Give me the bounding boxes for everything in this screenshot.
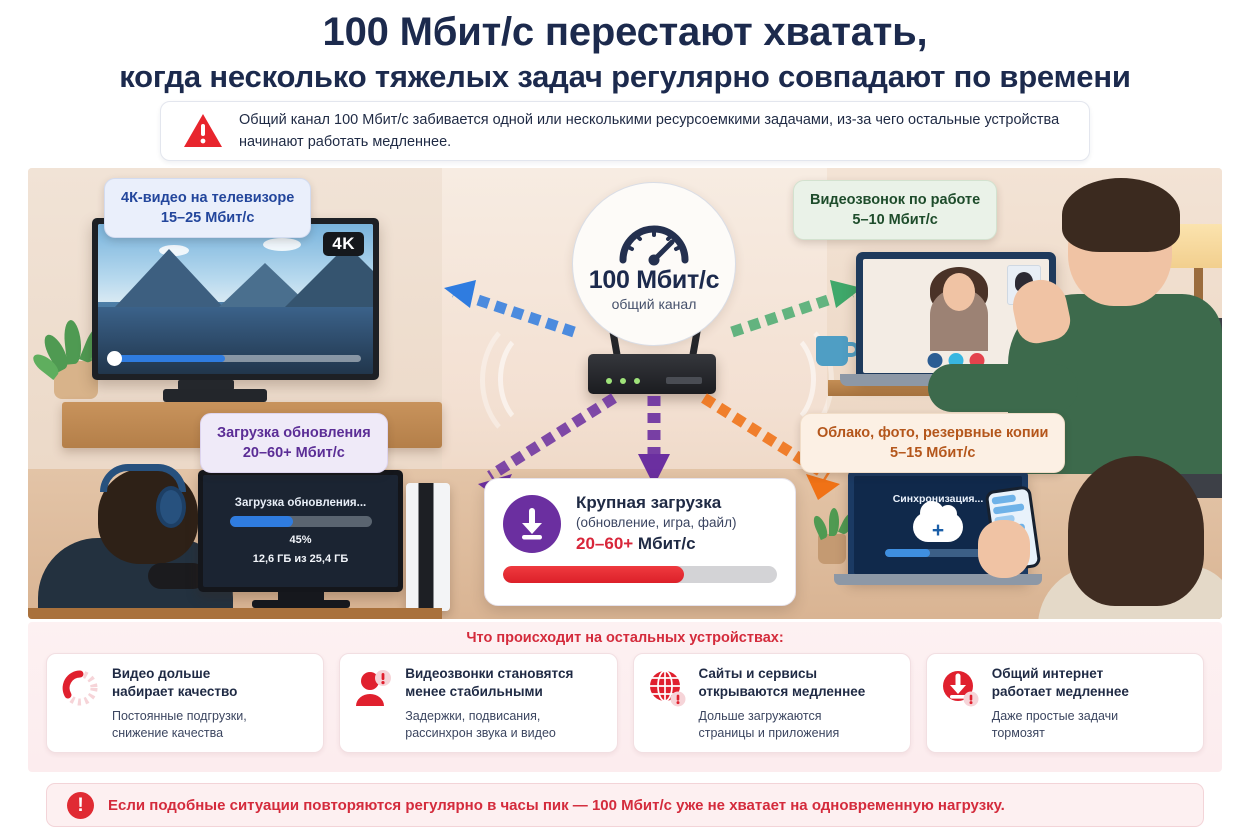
gaming-monitor-status: Загрузка обновления... xyxy=(235,497,366,509)
warning-triangle-icon xyxy=(183,113,223,149)
buffering-spinner-icon xyxy=(59,667,101,709)
tv-4k-badge: 4K xyxy=(323,232,364,256)
consequence-desc-line2: снижение качества xyxy=(112,726,223,740)
desk-left xyxy=(28,608,442,619)
headphones-cup-icon xyxy=(156,486,186,528)
tv-lake xyxy=(98,307,373,375)
arrow-to-tv xyxy=(398,278,578,340)
big-download-card: Крупная загрузка (обновление, игра, файл… xyxy=(484,478,796,606)
consequence-desc-line1: Даже простые задачи xyxy=(992,709,1118,723)
callout-cloud-title: Облако, фото, резервные копии xyxy=(817,423,1048,443)
callout-videocall-speed: 5–10 Мбит/с xyxy=(810,210,980,230)
consequence-desc: Задержки, подвисания, рассинхрон звука и… xyxy=(405,708,573,742)
globe-alert-icon xyxy=(646,667,688,709)
man-hair xyxy=(1062,178,1180,252)
television: 4K xyxy=(92,218,379,380)
gaming-monitor-progress xyxy=(230,516,372,527)
speedometer-icon xyxy=(615,216,693,264)
consequence-heading-line2: менее стабильными xyxy=(405,684,543,699)
circle-exclamation-icon: ! xyxy=(67,792,94,819)
consequence-heading: Видео дольше набирает качество xyxy=(112,665,247,701)
man-arm xyxy=(928,364,1078,412)
tv-playback-fill xyxy=(110,355,225,362)
consequence-desc-line2: рассинхрон звука и видео xyxy=(405,726,556,740)
consequences-grid: Видео дольше набирает качество Постоянны… xyxy=(28,653,1222,753)
router-port-strip xyxy=(666,377,702,384)
caller-face xyxy=(943,273,975,311)
gaming-monitor-progress-fill xyxy=(230,516,294,527)
consequence-heading-line1: Общий интернет xyxy=(992,666,1104,681)
consequence-desc-line1: Постоянные подгрузки, xyxy=(112,709,247,723)
consequence-desc-line1: Дольше загружаются xyxy=(699,709,822,723)
callout-videocall: Видеозвонок по работе 5–10 Мбит/с xyxy=(793,180,997,240)
coffee-mug-icon xyxy=(816,336,848,366)
download-card-progress-fill xyxy=(503,566,684,583)
monitor-foot xyxy=(252,600,350,608)
speedometer-value: 100 Мбит/с xyxy=(589,266,719,295)
page-header: 100 Мбит/с перестают хватать, когда неск… xyxy=(0,0,1250,95)
consequence-card: Видеозвонки становятся менее стабильными… xyxy=(339,653,617,753)
consequence-desc: Постоянные подгрузки, снижение качества xyxy=(112,708,247,742)
speedometer-subtitle: общий канал xyxy=(612,296,697,312)
tv-playback-knob xyxy=(107,351,122,366)
gaming-monitor-screen: Загрузка обновления... 45% 12,6 ГБ из 25… xyxy=(203,475,398,587)
callout-download-title: Загрузка обновления xyxy=(217,423,371,443)
download-card-speed: 20–60+ Мбит/с xyxy=(576,534,736,554)
consequence-desc-line2: тормозят xyxy=(992,726,1045,740)
sync-progress-fill xyxy=(885,549,930,557)
soundbar xyxy=(163,389,267,402)
gaming-monitor-size: 12,6 ГБ из 25,4 ГБ xyxy=(253,553,349,565)
callout-videocall-title: Видеозвонок по работе xyxy=(810,190,980,210)
consequence-card: Общий интернет работает медленнее Даже п… xyxy=(926,653,1204,753)
download-card-title: Крупная загрузка xyxy=(576,493,736,514)
callout-tv: 4К-видео на телевизоре 15–25 Мбит/с xyxy=(104,178,311,238)
footer-text: Если подобные ситуации повторяются регул… xyxy=(108,797,1005,814)
callout-download: Загрузка обновления 20–60+ Мбит/с xyxy=(200,413,388,473)
consequence-heading-line1: Видеозвонки становятся xyxy=(405,666,573,681)
callout-tv-title: 4К-видео на телевизоре xyxy=(121,188,294,208)
page-title-line2: когда несколько тяжелых задач регулярно … xyxy=(20,58,1230,95)
download-arrow-icon xyxy=(503,495,561,553)
download-card-speed-value: 20–60+ xyxy=(576,534,633,553)
download-card-subtitle: (обновление, игра, файл) xyxy=(576,514,736,532)
footer-banner: ! Если подобные ситуации повторяются рег… xyxy=(46,783,1204,827)
router-led xyxy=(634,378,640,384)
cloud-upload-icon: + xyxy=(913,512,963,542)
woman-hair xyxy=(1068,456,1204,606)
consequence-card: Видео дольше набирает качество Постоянны… xyxy=(46,653,324,753)
small-plant-icon xyxy=(818,534,846,564)
illustration-scene: 4K Загрузка обновления... 45% xyxy=(28,168,1222,619)
consequence-heading-line2: открываются медленнее xyxy=(699,684,866,699)
callout-tv-speed: 15–25 Мбит/с xyxy=(121,208,294,228)
consequence-heading-line1: Видео дольше xyxy=(112,666,210,681)
arrow-to-download xyxy=(636,396,672,488)
consequences-title: Что происходит на остальных устройствах: xyxy=(28,622,1222,653)
mountain-shape xyxy=(115,249,223,307)
sync-progress xyxy=(885,549,991,557)
callout-cloud-speed: 5–15 Мбит/с xyxy=(817,443,1048,463)
consequence-desc-line2: страницы и приложения xyxy=(699,726,840,740)
consequence-card: Сайты и сервисы открываются медленнее До… xyxy=(633,653,911,753)
gaming-monitor: Загрузка обновления... 45% 12,6 ГБ из 25… xyxy=(198,470,403,592)
consequence-heading-line2: работает медленнее xyxy=(992,684,1129,699)
callout-cloud: Облако, фото, резервные копии 5–15 Мбит/… xyxy=(800,413,1065,473)
consequence-heading: Сайты и сервисы открываются медленнее xyxy=(699,665,866,701)
download-card-speed-unit: Мбит/с xyxy=(633,534,695,553)
wifi-router-icon xyxy=(588,354,716,394)
consequence-desc: Дольше загружаются страницы и приложения xyxy=(699,708,866,742)
tv-playback-bar xyxy=(110,355,361,362)
consequences-section: Что происходит на остальных устройствах:… xyxy=(28,622,1222,772)
infographic-page: 100 Мбит/с перестают хватать, когда неск… xyxy=(0,0,1250,833)
alert-text: Общий канал 100 Мбит/с забивается одной … xyxy=(239,109,1067,154)
page-title-line1: 100 Мбит/с перестают хватать, xyxy=(20,10,1230,54)
consequence-heading: Видеозвонки становятся менее стабильными xyxy=(405,665,573,701)
speedometer-badge: 100 Мбит/с общий канал xyxy=(572,182,736,346)
person-alert-icon xyxy=(352,667,394,709)
download-alert-icon xyxy=(939,667,981,709)
consequence-desc: Даже простые задачи тормозят xyxy=(992,708,1129,742)
callout-download-speed: 20–60+ Мбит/с xyxy=(217,443,371,463)
alert-banner: Общий канал 100 Мбит/с забивается одной … xyxy=(160,101,1090,161)
tv-screen: 4K xyxy=(98,224,373,374)
router-led xyxy=(620,378,626,384)
woman-hand xyxy=(978,520,1030,578)
consequence-heading: Общий интернет работает медленнее xyxy=(992,665,1129,701)
download-card-progress xyxy=(503,566,777,583)
router-led xyxy=(606,378,612,384)
consequence-desc-line1: Задержки, подвисания, xyxy=(405,709,540,723)
consequence-heading-line2: набирает качество xyxy=(112,684,237,699)
gaming-monitor-percent: 45% xyxy=(289,534,311,546)
consequence-heading-line1: Сайты и сервисы xyxy=(699,666,818,681)
game-console xyxy=(406,483,450,611)
